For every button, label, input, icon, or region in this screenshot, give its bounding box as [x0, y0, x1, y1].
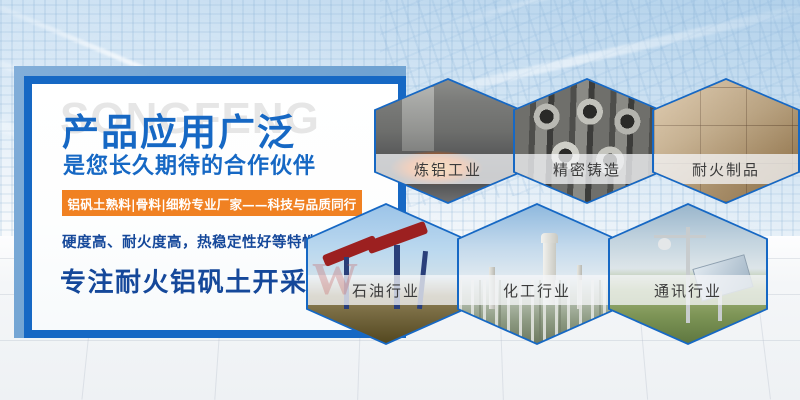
hexagon-label-band: 化工行业: [459, 275, 615, 305]
hexagon-label: 耐火制品: [692, 159, 760, 180]
ribbon-text: 铝矾土熟料|骨料|细粉专业厂家——科技与品质同行: [68, 194, 357, 213]
hexagon-label-band: 炼铝工业: [376, 154, 520, 184]
orange-ribbon: 铝矾土熟料|骨料|细粉专业厂家——科技与品质同行: [62, 190, 362, 216]
hexagon-label-band: 精密铸造: [515, 154, 659, 184]
hexagon-label: 炼铝工业: [414, 159, 482, 180]
hexagon-label-band: 通讯行业: [610, 275, 766, 305]
banner-canvas: SONGFENG 产品应用广泛 是您长久期待的合作伙伴 铝矾土熟料|骨料|细粉专…: [0, 0, 800, 400]
logo-watermark: W: [312, 252, 432, 300]
subheadline: 是您长久期待的合作伙伴: [63, 148, 316, 180]
hexagon-label: 通讯行业: [654, 280, 722, 301]
hexagon-label-band: 耐火制品: [654, 154, 798, 184]
feature-line: 硬度高、耐火度高，热稳定性好等特性: [62, 231, 317, 252]
hexagon-label: 精密铸造: [553, 159, 621, 180]
hexagon-label: 化工行业: [503, 280, 571, 301]
